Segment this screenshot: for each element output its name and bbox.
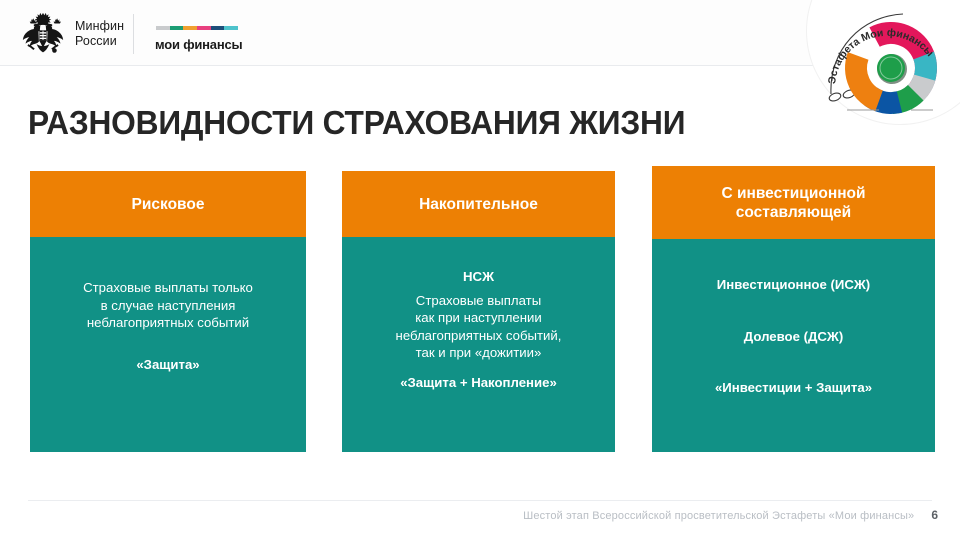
card-riskovoe-body: Страховые выплаты только в случае наступ… xyxy=(30,237,306,452)
page-number: 6 xyxy=(931,508,938,522)
card-invest-text-3: «Инвестиции + Защита» xyxy=(652,379,935,397)
footer: Шестой этап Всероссийской просветительск… xyxy=(523,508,938,522)
footer-divider xyxy=(28,500,932,501)
card-invest-header: С инвестиционной составляющей xyxy=(652,166,935,239)
card-nakopitelnoe-text-1: НСЖ xyxy=(342,268,615,286)
footer-caption: Шестой этап Всероссийской просветительск… xyxy=(523,510,914,522)
card-riskovoe-text-2: «Защита» xyxy=(30,356,306,374)
card-invest-text-2: Долевое (ДСЖ) xyxy=(652,328,935,346)
card-nakopitelnoe: Накопительное НСЖ Страховые выплаты как … xyxy=(342,171,615,452)
card-s-investicionnoj-sostavlyayushchej: С инвестиционной составляющей Инвестицио… xyxy=(652,166,935,452)
card-invest-text-1: Инвестиционное (ИСЖ) xyxy=(652,276,935,294)
card-nakopitelnoe-body: НСЖ Страховые выплаты как при наступлени… xyxy=(342,237,615,452)
card-nakopitelnoe-text-2: Страховые выплаты как при наступлении не… xyxy=(342,292,615,362)
slide-root: Минфин России мои финансы xyxy=(0,0,960,540)
card-riskovoe-header: Рисковое xyxy=(30,171,306,237)
card-nakopitelnoe-header: Накопительное xyxy=(342,171,615,237)
card-nakopitelnoe-text-3: «Защита + Накопление» xyxy=(342,374,615,392)
card-riskovoe-text-1: Страховые выплаты только в случае наступ… xyxy=(30,279,306,332)
card-invest-body: Инвестиционное (ИСЖ) Долевое (ДСЖ) «Инве… xyxy=(652,239,935,452)
cards-container: Рисковое Страховые выплаты только в случ… xyxy=(0,0,960,540)
card-riskovoe: Рисковое Страховые выплаты только в случ… xyxy=(30,171,306,452)
